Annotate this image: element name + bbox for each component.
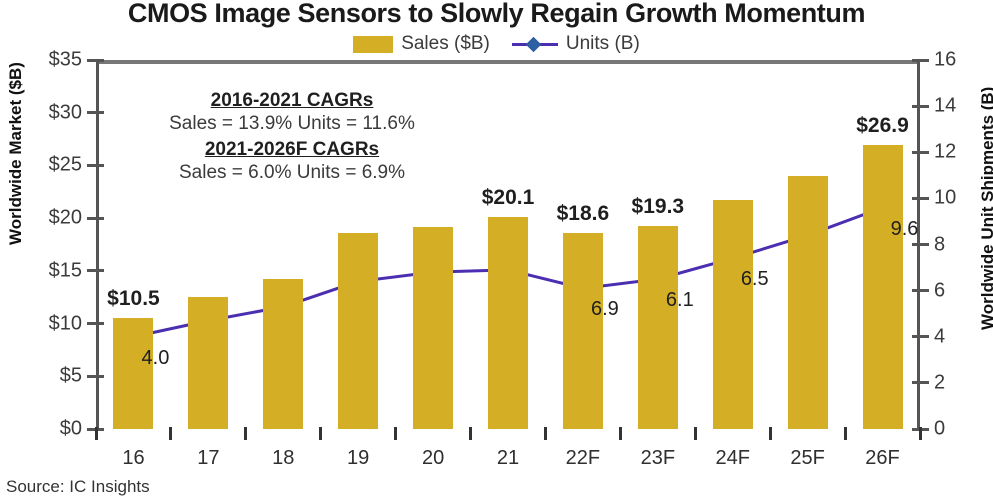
unit-value-label-23F: 6.1 bbox=[666, 289, 694, 312]
right-axis-tick bbox=[912, 197, 929, 200]
bar-26F bbox=[863, 145, 903, 429]
bar-19 bbox=[338, 233, 378, 429]
cagr-annotation-block: 2016-2021 CAGRs Sales = 13.9% Units = 11… bbox=[132, 90, 452, 188]
x-axis-tick bbox=[544, 427, 547, 440]
cagr-2016-2021-values: Sales = 13.9% Units = 11.6% bbox=[132, 113, 452, 135]
x-axis-tick bbox=[919, 427, 922, 440]
right-axis-tick bbox=[912, 335, 929, 338]
right-axis-title: Worldwide Unit Shipments (B) bbox=[978, 87, 993, 330]
right-axis-tick-label: 12 bbox=[934, 141, 956, 164]
left-axis-tick-label: $15 bbox=[49, 259, 82, 282]
left-axis-tick-label: $25 bbox=[49, 154, 82, 177]
x-axis-tick bbox=[319, 427, 322, 440]
right-axis-tick-label: 14 bbox=[934, 95, 956, 118]
x-axis-tick bbox=[694, 427, 697, 440]
unit-value-label-22F: 6.9 bbox=[591, 298, 619, 321]
bar-value-label-21: $20.1 bbox=[482, 186, 535, 210]
bar-value-label-16: $10.5 bbox=[107, 287, 160, 311]
bar-20 bbox=[413, 227, 453, 429]
unit-value-label-26F: 9.6 bbox=[891, 218, 919, 241]
bar-18 bbox=[263, 279, 303, 429]
bar-22F bbox=[563, 233, 603, 429]
legend-label-sales: Sales ($B) bbox=[401, 33, 490, 55]
cagr-2021-2026-heading: 2021-2026F CAGRs bbox=[132, 139, 452, 161]
right-axis-tick-label: 0 bbox=[934, 418, 945, 441]
right-axis-tick bbox=[912, 105, 929, 108]
legend-item-units: Units (B) bbox=[512, 33, 640, 55]
x-axis-tick bbox=[769, 427, 772, 440]
bar-value-label-26F: $26.9 bbox=[856, 114, 909, 138]
bar-value-label-22F: $18.6 bbox=[557, 202, 610, 226]
bar-value-label-23F: $19.3 bbox=[632, 195, 685, 219]
left-axis-tick bbox=[87, 164, 104, 167]
unit-value-label-16: 4.0 bbox=[142, 347, 170, 370]
right-axis-tick bbox=[912, 243, 929, 246]
bar-16 bbox=[113, 318, 153, 429]
left-axis-tick bbox=[87, 59, 104, 62]
left-axis-tick-label: $20 bbox=[49, 207, 82, 230]
x-axis-label-26F: 26F bbox=[865, 447, 899, 470]
x-axis-label-17: 17 bbox=[197, 447, 219, 470]
x-axis-label-23F: 23F bbox=[641, 447, 675, 470]
right-axis-tick bbox=[912, 59, 929, 62]
bar-25F bbox=[788, 176, 828, 429]
bar-23F bbox=[638, 226, 678, 429]
cagr-2021-2026-values: Sales = 6.0% Units = 6.9% bbox=[132, 162, 452, 184]
x-axis-tick bbox=[469, 427, 472, 440]
legend-label-units: Units (B) bbox=[566, 33, 640, 55]
legend-swatch-sales-icon bbox=[353, 36, 393, 53]
cagr-2016-2021-heading: 2016-2021 CAGRs bbox=[132, 90, 452, 112]
left-axis-title: Worldwide Market ($B) bbox=[6, 62, 26, 245]
left-axis-tick bbox=[87, 217, 104, 220]
bar-21 bbox=[488, 217, 528, 429]
left-axis-tick bbox=[87, 375, 104, 378]
left-axis-tick-label: $35 bbox=[49, 49, 82, 72]
left-axis-tick-label: $30 bbox=[49, 101, 82, 124]
right-axis-tick-label: 2 bbox=[934, 371, 945, 394]
x-axis-tick bbox=[169, 427, 172, 440]
x-axis-label-20: 20 bbox=[422, 447, 444, 470]
x-axis-label-25F: 25F bbox=[790, 447, 824, 470]
right-axis-tick bbox=[912, 381, 929, 384]
chart-title: CMOS Image Sensors to Slowly Regain Grow… bbox=[0, 0, 993, 29]
right-axis-tick-label: 16 bbox=[934, 49, 956, 72]
left-axis-tick-label: $5 bbox=[60, 365, 82, 388]
right-axis-tick-label: 8 bbox=[934, 233, 945, 256]
x-axis-tick bbox=[619, 427, 622, 440]
x-axis-label-21: 21 bbox=[497, 447, 519, 470]
x-axis-label-24F: 24F bbox=[715, 447, 749, 470]
left-axis-tick-label: $10 bbox=[49, 312, 82, 335]
x-axis-tick bbox=[95, 427, 98, 440]
legend-item-sales: Sales ($B) bbox=[353, 33, 490, 55]
left-axis-tick bbox=[87, 111, 104, 114]
x-axis-tick bbox=[394, 427, 397, 440]
left-axis-tick bbox=[87, 269, 104, 272]
left-axis-tick bbox=[87, 322, 104, 325]
right-axis-tick bbox=[912, 289, 929, 292]
x-axis-tick bbox=[844, 427, 847, 440]
chart-legend: Sales ($B) Units (B) bbox=[0, 33, 993, 55]
x-axis-label-19: 19 bbox=[347, 447, 369, 470]
left-axis-tick-label: $0 bbox=[60, 418, 82, 441]
unit-value-label-24F: 6.5 bbox=[741, 268, 769, 291]
x-axis-tick bbox=[244, 427, 247, 440]
chart-container: CMOS Image Sensors to Slowly Regain Grow… bbox=[0, 0, 993, 499]
x-axis-label-22F: 22F bbox=[566, 447, 600, 470]
right-axis-tick-label: 4 bbox=[934, 325, 945, 348]
legend-line-units-icon bbox=[512, 36, 558, 52]
x-axis-label-16: 16 bbox=[122, 447, 144, 470]
right-axis-tick-label: 10 bbox=[934, 187, 956, 210]
right-axis-tick-label: 6 bbox=[934, 279, 945, 302]
bar-24F bbox=[713, 200, 753, 429]
right-axis-tick bbox=[912, 151, 929, 154]
source-note: Source: IC Insights bbox=[6, 477, 150, 497]
bar-17 bbox=[188, 297, 228, 429]
x-axis-label-18: 18 bbox=[272, 447, 294, 470]
